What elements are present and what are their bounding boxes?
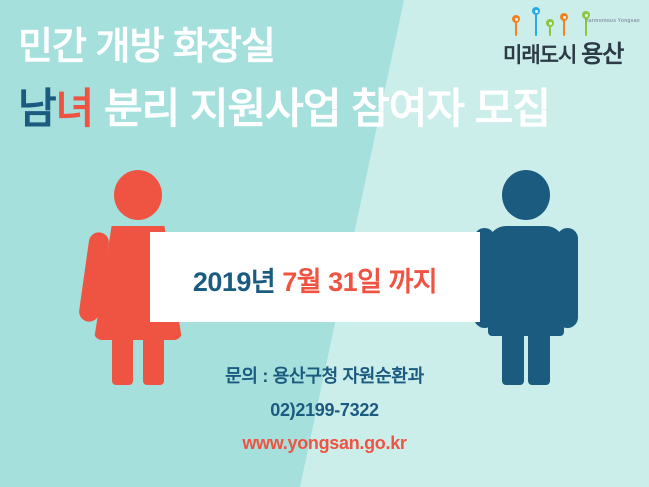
female-figure-head xyxy=(114,170,162,220)
logo-wordmark-prefix: 미래도시 xyxy=(503,44,581,67)
male-figure-head xyxy=(502,170,550,220)
contact-department: 문의 : 용산구청 자원순환과 xyxy=(0,362,649,388)
male-figure-body xyxy=(488,226,564,336)
headline-line-2-rest: 분리 지원사업 참여자 모집 xyxy=(93,85,550,132)
contact-block: 문의 : 용산구청 자원순환과 02)2199-7322 www.yongsan… xyxy=(0,362,649,466)
deadline-year: 2019년 xyxy=(193,267,282,297)
poster-canvas: 민간 개방 화장실 남녀 분리 지원사업 참여자 모집 Harmonious Y… xyxy=(0,0,649,487)
male-restroom-figure xyxy=(466,170,586,385)
deadline-banner: 2019년 7월 31일 까지 xyxy=(150,232,480,322)
map-pin-icon xyxy=(535,14,537,36)
logo-tagline: Harmonious Yongsan xyxy=(585,18,640,24)
contact-phone: 02)2199-7322 xyxy=(0,400,649,421)
yongsan-logo: Harmonious Yongsan 미래도시 용산 xyxy=(501,10,637,66)
headline-word-male: 남 xyxy=(18,85,56,132)
headline-word-female: 녀 xyxy=(56,85,94,132)
logo-map-pins-icon xyxy=(509,12,599,36)
logo-wordmark: 미래도시 용산 xyxy=(503,34,623,69)
headline-line-1: 민간 개방 화장실 xyxy=(18,28,275,66)
logo-wordmark-city: 용산 xyxy=(581,41,623,68)
deadline-text: 2019년 7월 31일 까지 xyxy=(150,260,480,299)
contact-website[interactable]: www.yongsan.go.kr xyxy=(0,433,649,454)
poster-header: 민간 개방 화장실 남녀 분리 지원사업 참여자 모집 Harmonious Y… xyxy=(0,0,649,152)
deadline-date: 7월 31일 까지 xyxy=(282,267,437,297)
headline-line-2: 남녀 분리 지원사업 참여자 모집 xyxy=(18,88,550,130)
